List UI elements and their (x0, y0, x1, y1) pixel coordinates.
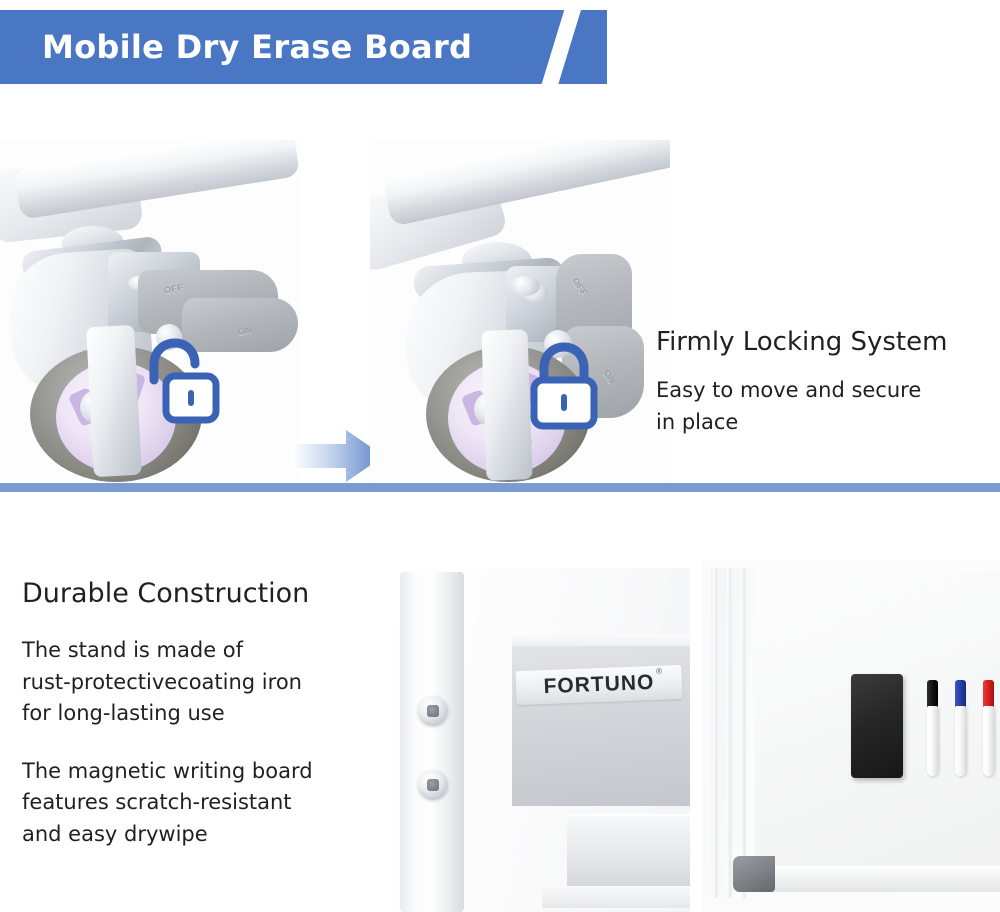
whiteboard-corner-bracket (733, 856, 775, 892)
whiteboard-rail-inner (741, 568, 747, 898)
durable-construction-section: Durable Construction The stand is made o… (0, 500, 1000, 912)
marker-blue-body (955, 706, 966, 776)
marker-tray-lip (542, 886, 690, 908)
marker-red-body (983, 706, 994, 776)
marker-black-body (927, 706, 938, 776)
page-title: Mobile Dry Erase Board (42, 28, 472, 66)
post-bolt-upper (418, 696, 448, 726)
construction-paragraph-2: The magnetic writing board features scra… (22, 756, 387, 851)
padlock-open-icon (140, 338, 220, 430)
brand-label: FORTUNO® (543, 671, 655, 699)
whiteboard-writing-surface (755, 570, 1000, 866)
marker-blue (955, 680, 966, 776)
whiteboard-rail-mid (727, 568, 733, 898)
banner-slash-decoration (539, 10, 584, 84)
whiteboard-rail-outer (713, 568, 719, 898)
construction-headline: Durable Construction (22, 578, 387, 609)
brand-plate: FORTUNO® (515, 665, 682, 705)
construction-p1-line3: for long-lasting use (22, 698, 387, 730)
whiteboard-bottom-rail (741, 866, 1000, 892)
construction-p1-line1: The stand is made of (22, 635, 387, 667)
padlock-closed-icon (522, 340, 606, 432)
construction-p2-line1: The magnetic writing board (22, 756, 387, 788)
marker-black (927, 680, 938, 776)
locking-body-line2: in place (656, 406, 996, 439)
construction-p2-line3: and easy drywipe (22, 819, 387, 851)
locking-copy-block: Firmly Locking System Easy to move and s… (656, 328, 996, 439)
caster-unlocked-photo: OFF ON (0, 140, 300, 483)
trademark-symbol: ® (656, 667, 663, 676)
stand-post-photo: FORTUNO® (392, 568, 690, 912)
caster-locked-photo: OFF ON (370, 140, 670, 483)
locking-headline: Firmly Locking System (656, 328, 996, 358)
fork-leg-left (86, 325, 142, 477)
construction-copy-block: Durable Construction The stand is made o… (22, 578, 387, 850)
section-divider (0, 483, 1000, 492)
locking-body-line1: Easy to move and secure (656, 374, 996, 407)
infographic-page: Mobile Dry Erase Board OFF ON (0, 0, 1000, 912)
locking-system-section: OFF ON (0, 100, 1000, 483)
construction-p2-line2: features scratch-resistant (22, 787, 387, 819)
whiteboard-frame (711, 568, 1000, 898)
frame-tube-right (382, 140, 670, 227)
marker-tray (567, 814, 690, 888)
marker-red (983, 680, 994, 776)
post-bolt-lower (418, 770, 448, 800)
construction-paragraph-1: The stand is made of rust-protectivecoat… (22, 635, 387, 730)
magnetic-eraser (851, 674, 903, 778)
construction-p1-line2: rust-protectivecoating iron (22, 667, 387, 699)
bracket-rivet-right (510, 276, 540, 296)
whiteboard-accessories-photo (703, 560, 1000, 912)
frame-tube-left (14, 140, 300, 220)
header-banner: Mobile Dry Erase Board (0, 10, 607, 84)
stand-vertical-post (400, 572, 464, 912)
